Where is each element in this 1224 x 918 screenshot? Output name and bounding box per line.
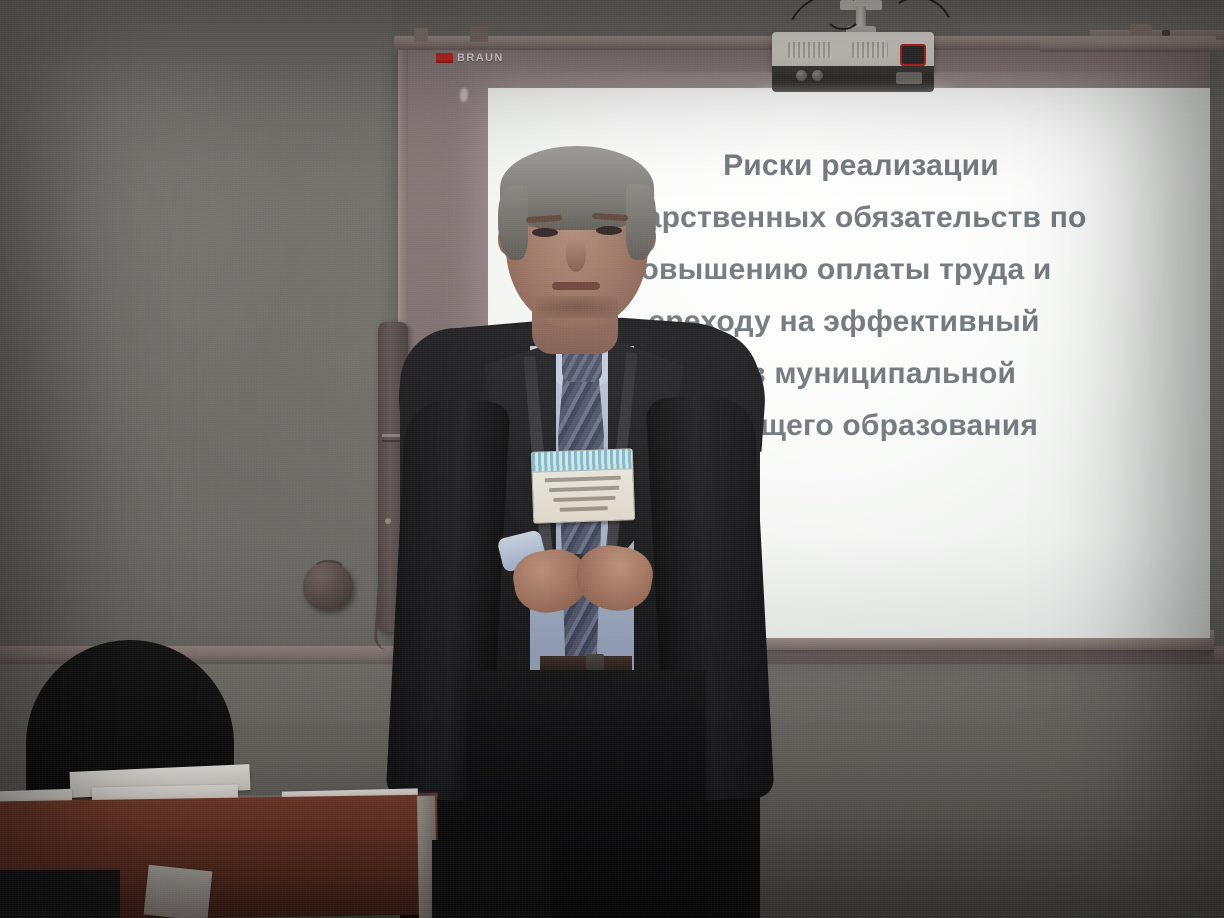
badge-text-line-2 [549, 486, 619, 492]
whiteboard-bracket-right [470, 26, 488, 42]
projector-connector-port [900, 44, 926, 66]
hair-side-right [626, 184, 656, 260]
projector-label-plate [896, 72, 922, 84]
whiteboard-brand-label: BRAUN [457, 52, 504, 64]
speaker-person [380, 150, 800, 918]
presentation-photo-scene: BRAUN Риски реализации дарственных обяза… [0, 0, 1224, 918]
wall-light-sheen [0, 60, 300, 480]
whiteboard-bracket-left [414, 28, 428, 42]
badge-text-line-3 [553, 496, 615, 502]
badge-text-line-4 [560, 506, 608, 512]
ceiling-strip [960, 0, 1224, 34]
floor-shadow-right [432, 840, 552, 918]
ceiling-rail-mount [1130, 24, 1152, 34]
conference-name-badge [531, 448, 635, 524]
hair-side-left [498, 186, 528, 260]
paper-on-floor[interactable] [144, 865, 213, 918]
whiteboard-brand-logo: BRAUN [436, 52, 504, 64]
projector-knob-a[interactable] [796, 70, 807, 81]
nose [566, 238, 586, 272]
badge-header-band [532, 449, 633, 472]
projector-vent-left [788, 42, 832, 58]
eye-right [596, 226, 622, 235]
mouth [552, 282, 600, 290]
badge-text-line-1 [545, 476, 621, 483]
braun-logo-mark [436, 53, 453, 63]
chin-shadow [536, 296, 618, 318]
projector-knob-b[interactable] [812, 70, 823, 81]
round-wall-knob[interactable] [303, 562, 353, 610]
projector-vent-right [852, 42, 888, 58]
eye-left [532, 228, 558, 237]
whiteboard-rail-extension [1040, 40, 1224, 52]
floor-shadow-left [0, 870, 120, 918]
